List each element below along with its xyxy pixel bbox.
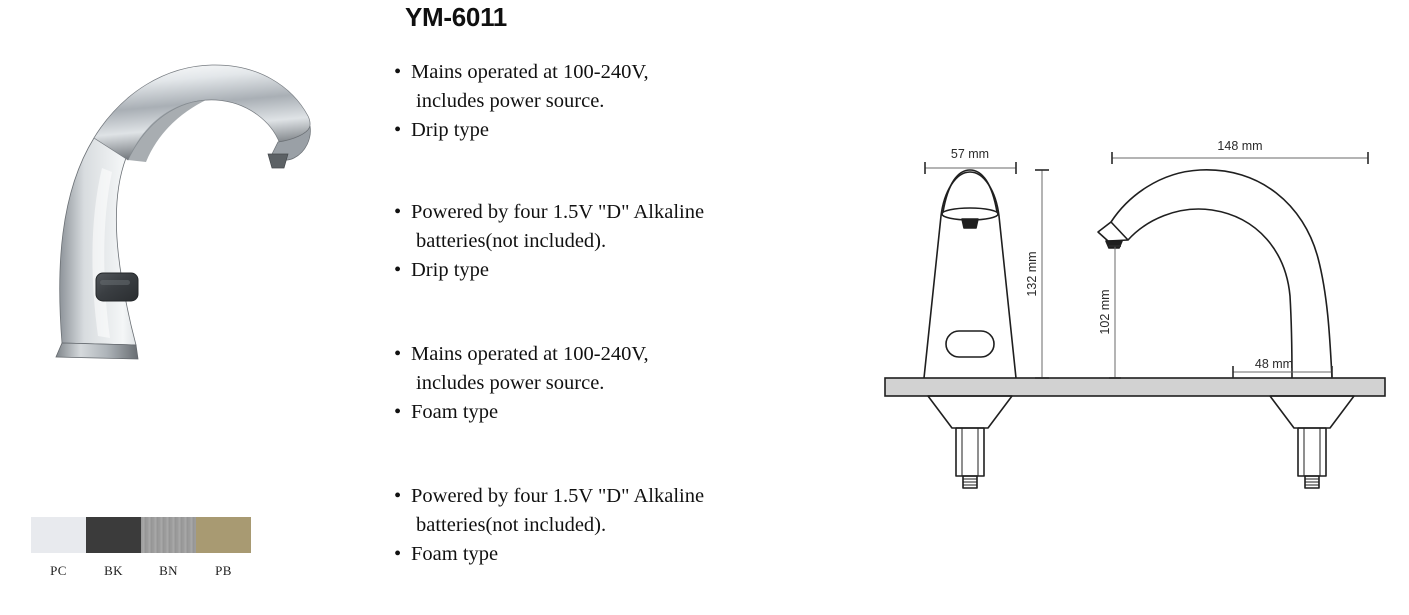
spec-line: •Powered by four 1.5V "D" Alkaline — [398, 482, 798, 511]
finish-chip-bn — [141, 517, 196, 553]
bullet-icon: • — [398, 482, 411, 511]
finish-swatch-bk[interactable]: BK — [86, 517, 141, 579]
spec-group-2: •Powered by four 1.5V "D" Alkaline batte… — [398, 198, 798, 285]
finish-label-pc: PC — [50, 563, 67, 579]
dim-label-front-height: 132 mm — [1025, 251, 1039, 296]
mount-cone-left — [928, 396, 1012, 428]
spec-text: includes power source. — [416, 90, 604, 112]
dim-label-spout-height: 102 mm — [1098, 289, 1112, 334]
spec-line: •Mains operated at 100-240V, — [398, 58, 798, 87]
front-view-dome — [943, 170, 997, 212]
faucet-base — [56, 343, 138, 359]
spec-line: •Drip type — [398, 116, 798, 145]
spec-text: Mains operated at 100-240V, — [411, 61, 649, 83]
side-view-aerator — [1106, 241, 1122, 248]
dim-label-front-width: 57 mm — [951, 147, 989, 161]
counter-deck — [885, 378, 1385, 396]
product-photo — [10, 18, 340, 378]
mount-shank-left — [956, 428, 984, 476]
side-view-outer-curve — [1111, 170, 1332, 378]
bullet-icon: • — [398, 540, 411, 569]
specifications-panel: YM-6011 •Mains operated at 100-240V, inc… — [398, 0, 798, 615]
bullet-icon: • — [398, 256, 411, 285]
side-view-inner-curve — [1128, 209, 1292, 378]
spec-line: •Powered by four 1.5V "D" Alkaline — [398, 198, 798, 227]
sensor-window — [96, 273, 138, 301]
spec-text: Drip type — [411, 119, 489, 141]
spec-text: Powered by four 1.5V "D" Alkaline — [411, 201, 704, 223]
spec-text: Powered by four 1.5V "D" Alkaline — [411, 485, 704, 507]
finish-chip-bk — [86, 517, 141, 553]
finish-swatch-strip: PC BK BN PB — [31, 517, 251, 579]
spec-line: •Foam type — [398, 398, 798, 427]
spec-text: batteries(not included). — [416, 230, 606, 252]
spec-text: Foam type — [411, 543, 498, 565]
spec-text: Foam type — [411, 401, 498, 423]
model-title: YM-6011 — [405, 2, 507, 33]
finish-chip-pc — [31, 517, 86, 553]
spec-text: Mains operated at 100-240V, — [411, 343, 649, 365]
spec-line: •Drip type — [398, 256, 798, 285]
spec-group-3: •Mains operated at 100-240V, includes po… — [398, 340, 798, 427]
spec-line: includes power source. — [398, 87, 798, 116]
bullet-icon: • — [398, 398, 411, 427]
spec-line: includes power source. — [398, 369, 798, 398]
front-view-outlet — [962, 219, 978, 228]
bullet-icon: • — [398, 58, 411, 87]
faucet-aerator — [268, 154, 288, 168]
dimension-drawing: 57 mm 132 mm 148 mm 102 mm 48 mm — [860, 0, 1409, 615]
side-view-spout-tip — [1098, 222, 1128, 241]
spec-text: batteries(not included). — [416, 514, 606, 536]
sensor-window-glint — [100, 280, 130, 285]
dim-label-base-width: 48 mm — [1255, 357, 1293, 371]
spec-text: includes power source. — [416, 372, 604, 394]
spec-line: batteries(not included). — [398, 227, 798, 256]
spec-group-1: •Mains operated at 100-240V, includes po… — [398, 58, 798, 145]
spec-line: batteries(not included). — [398, 511, 798, 540]
dim-label-side-reach: 148 mm — [1217, 139, 1262, 153]
mount-cone-right — [1270, 396, 1354, 428]
product-photo-panel — [0, 0, 360, 500]
bullet-icon: • — [398, 340, 411, 369]
bullet-icon: • — [398, 198, 411, 227]
finish-swatch-pc[interactable]: PC — [31, 517, 86, 579]
spec-group-4: •Powered by four 1.5V "D" Alkaline batte… — [398, 482, 798, 569]
spec-line: •Mains operated at 100-240V, — [398, 340, 798, 369]
finish-swatch-bn[interactable]: BN — [141, 517, 196, 579]
finish-chip-pb — [196, 517, 251, 553]
technical-drawing-panel: 57 mm 132 mm 148 mm 102 mm 48 mm — [860, 0, 1409, 615]
spec-line: •Foam type — [398, 540, 798, 569]
finish-swatch-pb[interactable]: PB — [196, 517, 251, 579]
front-view-sensor — [946, 331, 994, 357]
finish-label-pb: PB — [215, 563, 232, 579]
finish-label-bk: BK — [104, 563, 123, 579]
front-view-body — [924, 172, 1016, 378]
mount-shank-right — [1298, 428, 1326, 476]
spec-text: Drip type — [411, 259, 489, 281]
finish-label-bn: BN — [159, 563, 178, 579]
bullet-icon: • — [398, 116, 411, 145]
